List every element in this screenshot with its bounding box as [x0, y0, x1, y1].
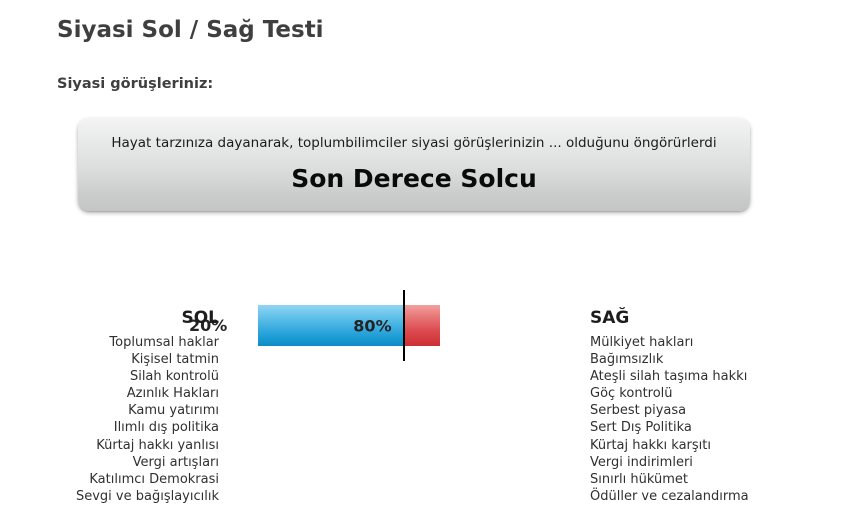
list-item: Serbest piyasa [590, 402, 830, 419]
list-item: Göç kontrolü [590, 385, 830, 402]
right-items-list: Mülkiyet haklarıBağımsızlıkAteşli silah … [590, 334, 830, 505]
list-item: Sert Dış Politika [590, 419, 830, 436]
result-value-text: Son Derece Solcu [78, 164, 750, 193]
page-title: Siyasi Sol / Sağ Testi [57, 17, 324, 43]
meter-left-percent-label: 80% [353, 316, 391, 335]
list-item: Katılımcı Demokrasi [38, 471, 219, 488]
list-item: Bağımsızlık [590, 351, 830, 368]
meter-center-divider [403, 290, 405, 361]
list-item: Kişisel tatmin [38, 351, 219, 368]
page-subtitle: Siyasi görüşleriniz: [57, 76, 213, 92]
list-item: Sınırlı hükümet [590, 471, 830, 488]
right-column-heading: SAĞ [590, 310, 830, 327]
list-item: Toplumsal haklar [38, 334, 219, 351]
list-item: Ödüller ve cezalandırma [590, 488, 830, 505]
list-item: Ateşli silah taşıma hakkı [590, 368, 830, 385]
list-item: Silah kontrolü [38, 368, 219, 385]
list-item: Ilımlı dış politika [38, 419, 219, 436]
list-item: Vergi indirimleri [590, 454, 830, 471]
left-traits-column: SOL Toplumsal haklarKişisel tatminSilah … [38, 310, 219, 505]
left-column-heading: SOL [38, 310, 219, 327]
list-item: Kürtaj hakkı yanlısı [38, 437, 219, 454]
list-item: Sevgi ve bağışlayıcılık [38, 488, 219, 505]
meter-right-segment [404, 305, 440, 346]
meter-left-segment: 80% [258, 305, 404, 346]
list-item: Azınlık Hakları [38, 385, 219, 402]
left-items-list: Toplumsal haklarKişisel tatminSilah kont… [38, 334, 219, 505]
list-item: Kamu yatırımı [38, 402, 219, 419]
right-traits-column: SAĞ Mülkiyet haklarıBağımsızlıkAteşli si… [590, 310, 830, 505]
list-item: Kürtaj hakkı karşıtı [590, 437, 830, 454]
list-item: Vergi artışları [38, 454, 219, 471]
result-lead-text: Hayat tarzınıza dayanarak, toplumbilimci… [78, 135, 750, 151]
result-panel: Hayat tarzınıza dayanarak, toplumbilimci… [78, 118, 750, 211]
left-right-meter: 80% [258, 305, 440, 346]
list-item: Mülkiyet hakları [590, 334, 830, 351]
